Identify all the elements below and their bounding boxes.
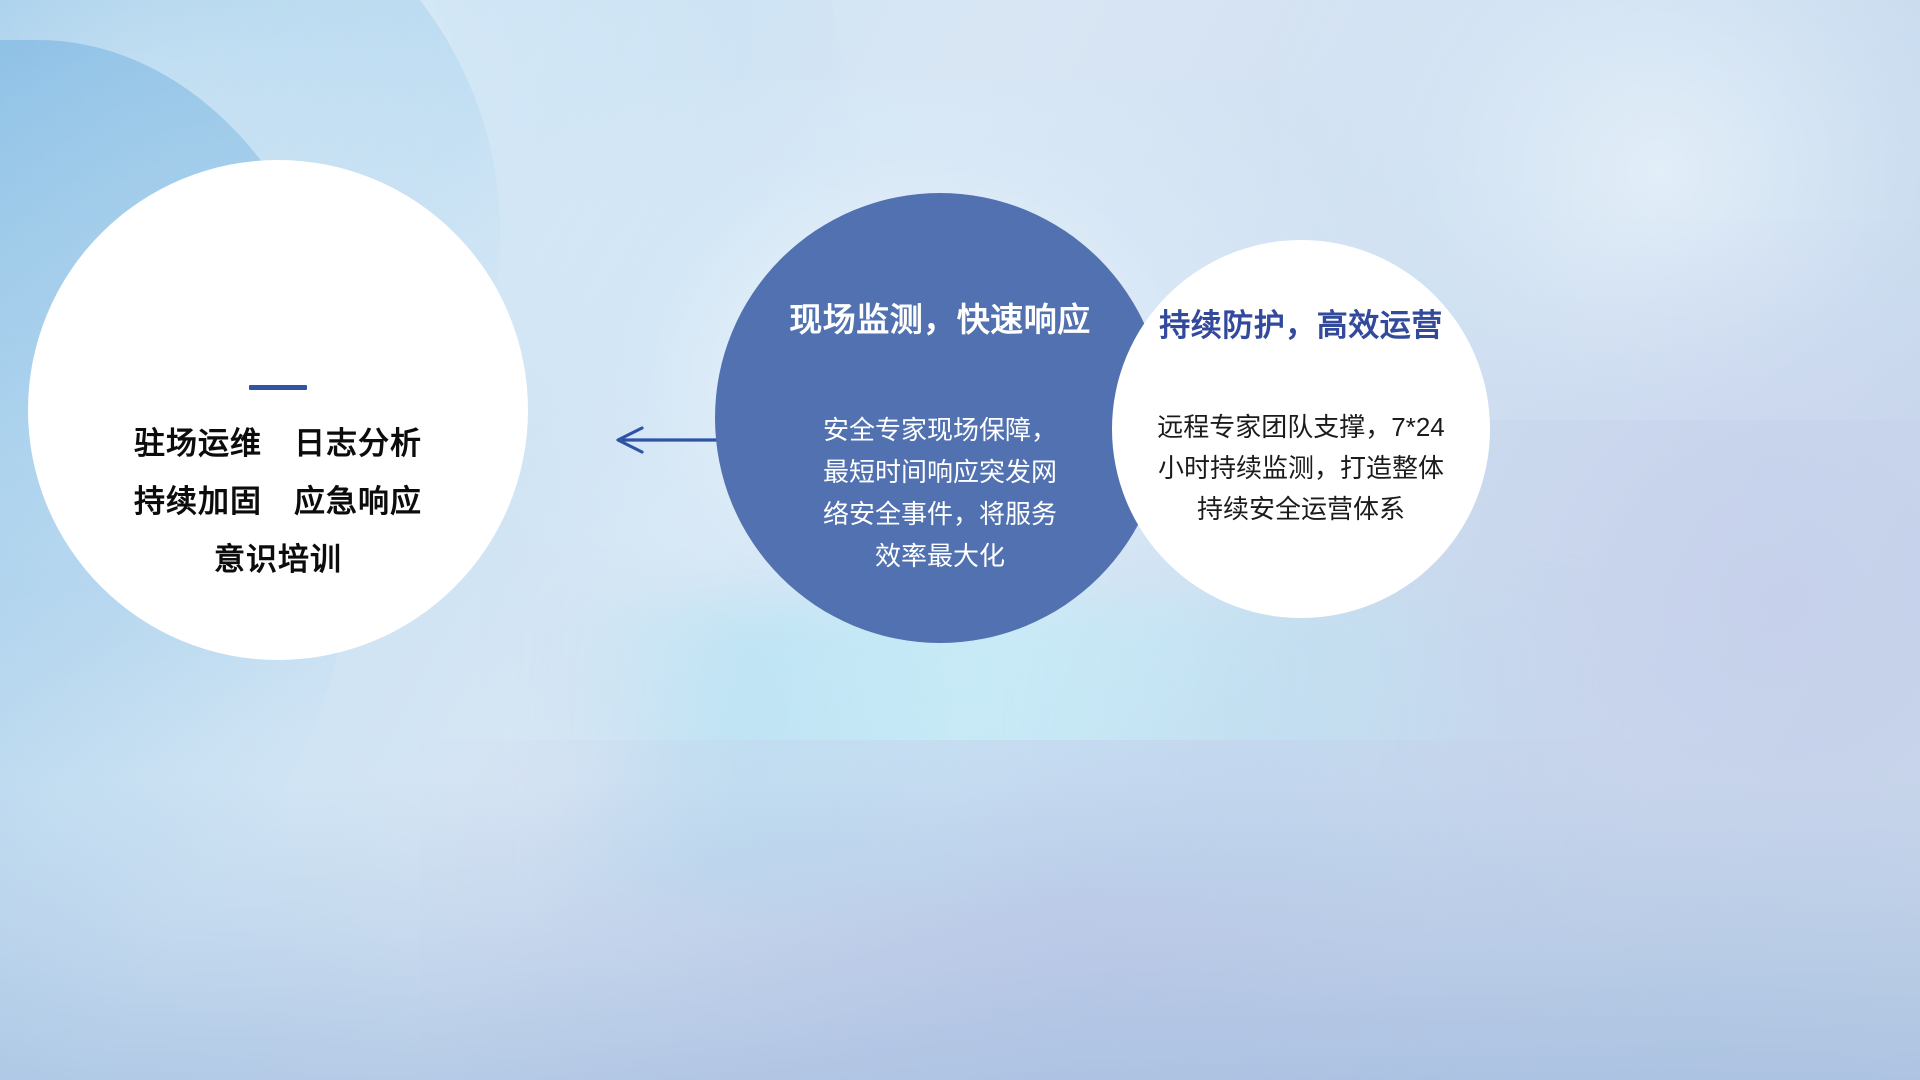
capability-line-2: 持续加固 应急响应	[28, 486, 528, 517]
infographic-canvas: 驻场运维 日志分析 持续加固 应急响应 意识培训 现场监测，快速响应 安全专家现…	[0, 0, 1920, 1080]
card-on-site-capabilities[interactable]: 驻场运维 日志分析 持续加固 应急响应 意识培训	[28, 160, 528, 660]
card-on-site-monitoring[interactable]: 现场监测，快速响应 安全专家现场保障， 最短时间响应突发网 络安全事件，将服务 …	[715, 193, 1165, 643]
on-site-monitoring-body-line-3: 络安全事件，将服务	[790, 493, 1090, 535]
capability-line-3: 意识培训	[28, 544, 528, 575]
on-site-monitoring-body-line-2: 最短时间响应突发网	[790, 451, 1090, 493]
on-site-monitoring-body-line-4: 效率最大化	[790, 535, 1090, 577]
continuous-protection-body-line-2: 小时持续监测，打造整体	[1125, 448, 1477, 489]
capability-line-1: 驻场运维 日志分析	[28, 428, 528, 459]
card-continuous-protection[interactable]: 持续防护，高效运营 远程专家团队支撑，7*24 小时持续监测，打造整体 持续安全…	[1112, 240, 1490, 618]
continuous-protection-title: 持续防护，高效运营	[1159, 300, 1443, 345]
on-site-monitoring-body: 安全专家现场保障， 最短时间响应突发网 络安全事件，将服务 效率最大化	[790, 409, 1090, 577]
continuous-protection-body-line-3: 持续安全运营体系	[1125, 489, 1477, 530]
background-bottom-shade	[0, 780, 1920, 1080]
continuous-protection-body: 远程专家团队支撑，7*24 小时持续监测，打造整体 持续安全运营体系	[1125, 407, 1477, 530]
on-site-monitoring-title: 现场监测，快速响应	[789, 293, 1091, 341]
capabilities-content: 驻场运维 日志分析 持续加固 应急响应 意识培训	[28, 160, 528, 575]
divider-dash	[249, 385, 307, 390]
on-site-monitoring-body-line-1: 安全专家现场保障，	[790, 409, 1090, 451]
continuous-protection-body-line-1: 远程专家团队支撑，7*24	[1125, 407, 1477, 448]
